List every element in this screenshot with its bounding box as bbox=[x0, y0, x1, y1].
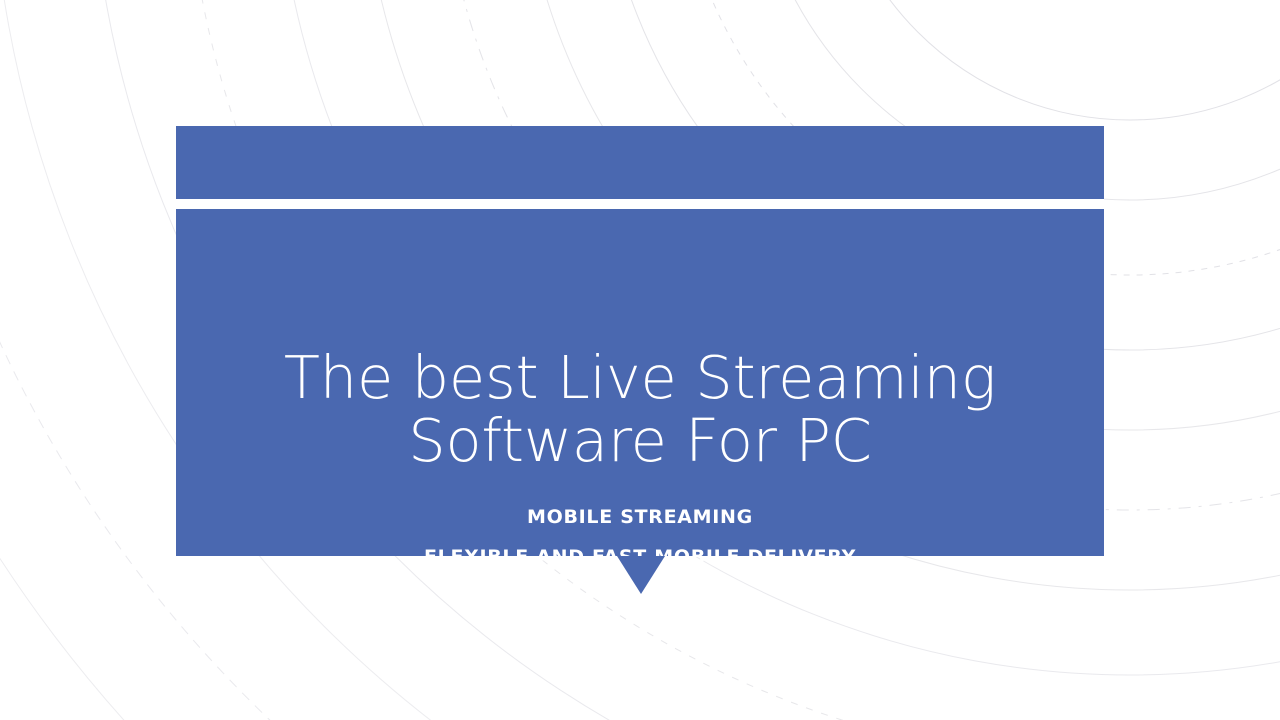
accent-bar bbox=[176, 126, 1104, 199]
pointer-triangle-icon bbox=[617, 556, 665, 594]
card-divider-gap bbox=[176, 199, 1104, 209]
subtitle-line-1: Mobile Streaming bbox=[176, 497, 1104, 537]
title-card: The best Live Streaming Software For PC … bbox=[176, 126, 1104, 556]
title-block: The best Live Streaming Software For PC bbox=[176, 209, 1104, 472]
presentation-slide: The best Live Streaming Software For PC … bbox=[0, 0, 1280, 720]
page-title: The best Live Streaming Software For PC bbox=[176, 346, 1104, 472]
title-card-body: The best Live Streaming Software For PC … bbox=[176, 209, 1104, 556]
swirl-arc-0 bbox=[830, 0, 1280, 120]
